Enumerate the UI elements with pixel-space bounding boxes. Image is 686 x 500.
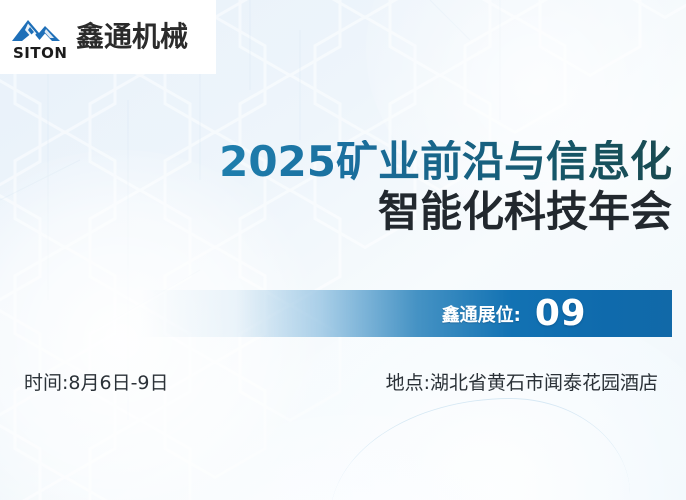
event-poster: SITON 鑫通机械 2025矿业前沿与信息化 智能化科技年会 鑫通展位: 09…: [0, 0, 686, 500]
brand-logo-chinese-name: 鑫通机械: [76, 23, 188, 53]
event-details: 时间:8月6日-9日 地点:湖北省黄石市闻泰花园酒店: [0, 368, 672, 395]
mountain-logo-icon: SITON: [8, 14, 70, 62]
svg-text:SITON: SITON: [13, 44, 67, 62]
brand-logo-band: SITON 鑫通机械: [0, 0, 216, 74]
background-arc-edge: [330, 398, 630, 500]
brand-logo: SITON 鑫通机械: [8, 14, 188, 62]
event-date: 时间:8月6日-9日: [24, 368, 169, 395]
hexagon-pattern-icon: [0, 0, 686, 500]
page-title: 2025矿业前沿与信息化 智能化科技年会: [0, 140, 672, 235]
booth-number: 09: [535, 296, 586, 332]
event-venue: 地点:湖北省黄石市闻泰花园酒店: [386, 368, 658, 395]
booth-banner: 鑫通展位: 09: [140, 290, 672, 337]
headline-line-1: 2025矿业前沿与信息化: [0, 140, 672, 184]
booth-label: 鑫通展位:: [442, 301, 521, 327]
headline-line-2: 智能化科技年会: [0, 189, 672, 235]
background-arc: [120, 415, 590, 500]
